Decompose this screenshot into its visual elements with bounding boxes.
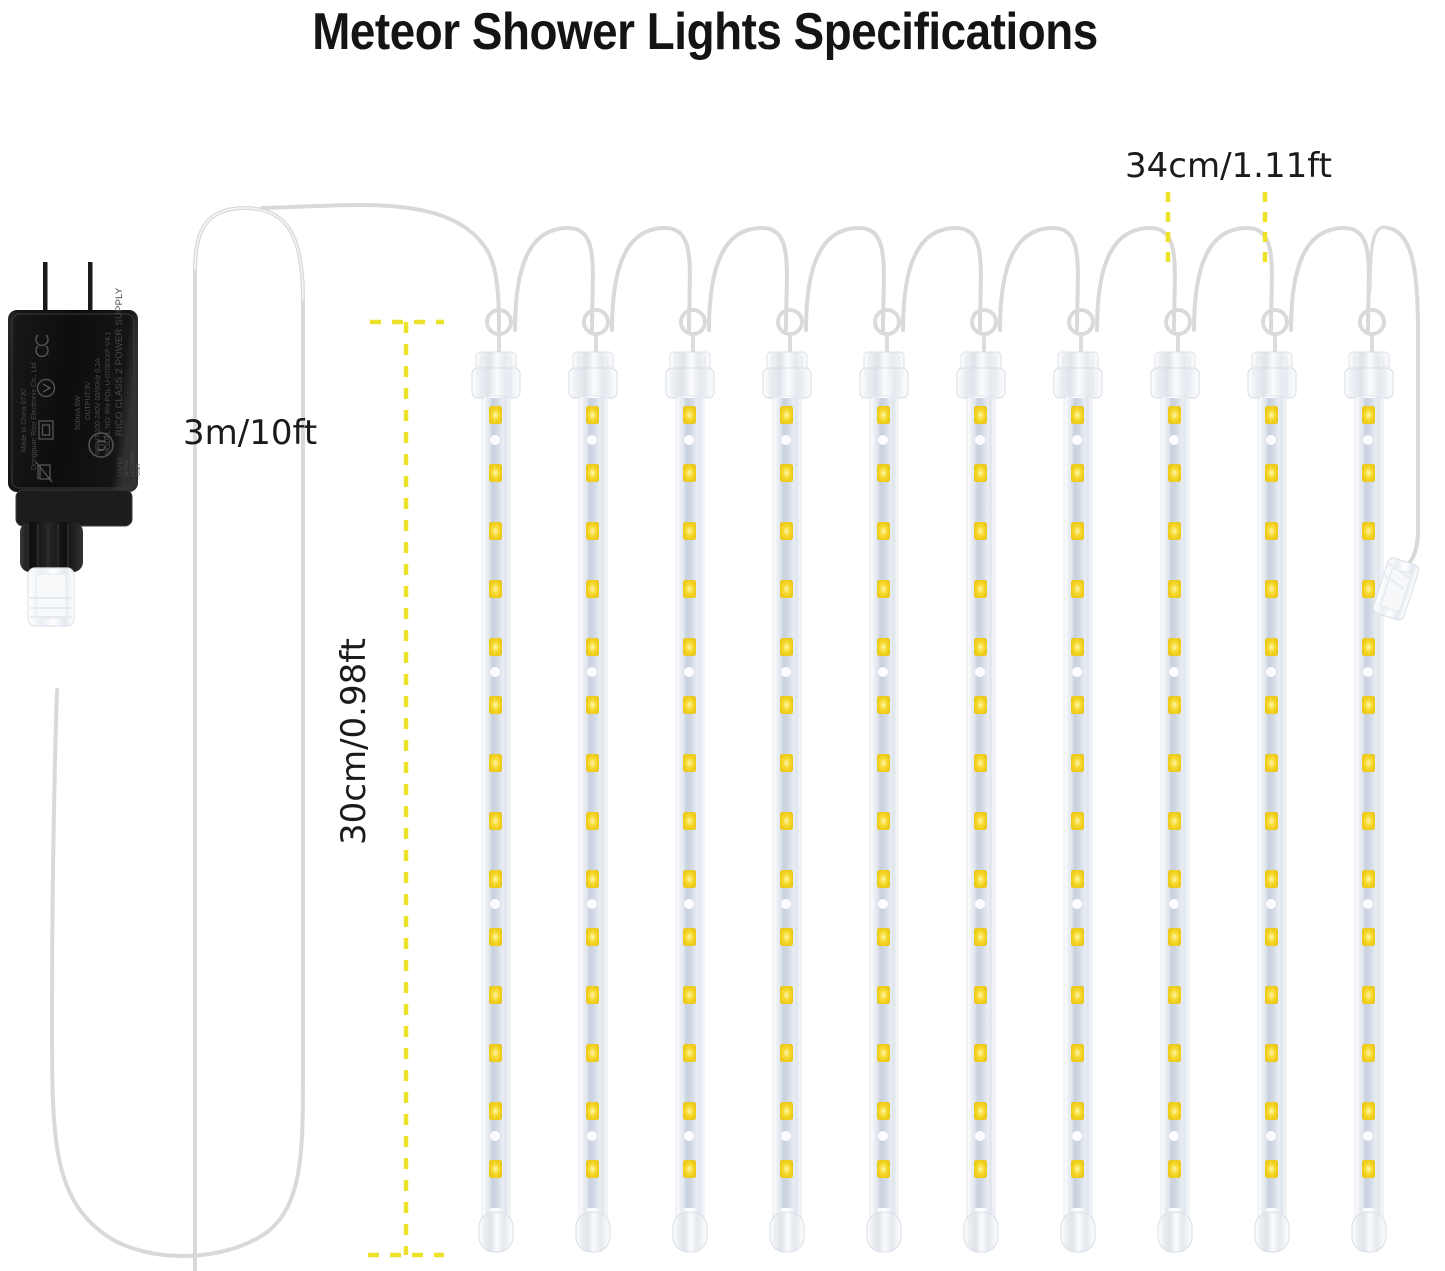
tube-cap [1151,352,1199,398]
product-illustration: RICO CLASS 2 POWER SUPPLY MODEL NO: RN-P… [0,0,1445,1271]
led-tube-group [472,310,1393,1252]
led-tube [666,310,714,1252]
cord-to-first-tube [262,205,499,330]
hanging-ring [681,310,705,352]
tube-cap [1054,352,1102,398]
svg-text:Dongguan Rico Electronic Co.,: Dongguan Rico Electronic Co., Ltd [31,363,38,470]
hanging-ring [1360,310,1384,352]
tube-cap [763,352,811,398]
led-tube [1248,310,1296,1252]
led-tube [1054,310,1102,1252]
tube-cap [666,352,714,398]
svg-text:UL: UL [94,435,108,452]
led-tube [472,310,520,1252]
dashed-guide-line [368,322,444,1255]
led-tube [763,310,811,1252]
led-tube [860,310,908,1252]
tube-cap [472,352,520,398]
no-bin-mark [36,462,52,482]
led-tube [569,310,617,1252]
hanging-ring [972,310,996,352]
led-tube [1345,310,1393,1252]
tube-cap [860,352,908,398]
svg-text:OUTPUT:3V: OUTPUT:3V [85,381,92,420]
tube-cap [957,352,1005,398]
hanging-ring [1069,310,1093,352]
hanging-ring [584,310,608,352]
led-tube [957,310,1005,1252]
svg-text:Made In China 0720: Made In China 0720 [21,389,28,452]
hanging-ring [1166,310,1190,352]
tube-cap [569,352,617,398]
cord-length-label: 3m/10ft [183,413,317,453]
tube-cap [1345,352,1393,398]
adapter-prongs [43,262,93,314]
power-adapter: RICO CLASS 2 POWER SUPPLY MODEL NO: RN-P… [8,262,142,626]
adapter-connector [28,568,74,626]
adapter-collar [20,522,83,572]
hanging-ring [778,310,802,352]
svg-text:500mA 6W: 500mA 6W [75,395,82,430]
tube-spacing-label: 34cm/1.11ft [1125,146,1332,186]
tube-length-label: 30cm/0.98ft [334,638,374,845]
hanging-ring [1263,310,1287,352]
svg-text:UNIT: UNIT [136,463,142,476]
svg-text:RICO CLASS 2 POWER SUPPLY: RICO CLASS 2 POWER SUPPLY [114,287,125,436]
led-tube [1151,310,1199,1252]
tube-cap [1248,352,1296,398]
specification-diagram: Meteor Shower Lights Specifications [0,0,1445,1271]
hanging-ring [875,310,899,352]
